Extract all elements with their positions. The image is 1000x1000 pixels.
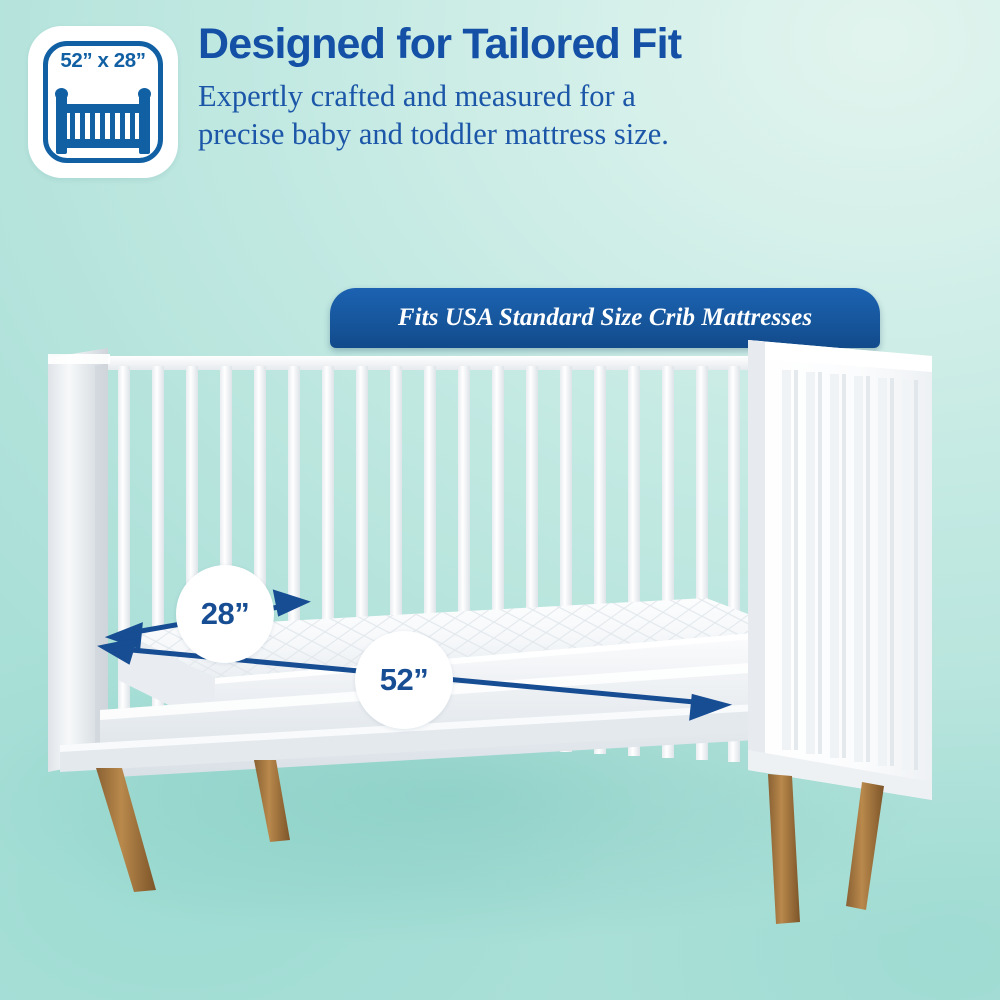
crib-icon <box>50 84 156 158</box>
compatibility-banner-label: Fits USA Standard Size Crib Mattresses <box>398 304 812 332</box>
width-dimension-bubble: 28” <box>176 565 274 663</box>
dimension-badge: 52” x 28” <box>28 26 178 178</box>
page-title: Designed for Tailored Fit <box>198 22 988 68</box>
infographic-stage: 52” x 28” <box>0 0 1000 1000</box>
header-text-block: Designed for Tailored Fit Expertly craft… <box>198 22 988 153</box>
leg-front-left <box>96 768 156 892</box>
badge-dimension-label: 52” x 28” <box>28 49 178 73</box>
crib-illustration <box>0 330 1000 950</box>
width-dimension-label: 28” <box>201 596 249 632</box>
crib-right-end-panel <box>748 340 932 800</box>
page-subtitle-line-1: Expertly crafted and measured for a <box>198 77 988 115</box>
leg-back-right <box>846 782 884 910</box>
leg-front-right <box>768 774 800 924</box>
page-subtitle-line-2: precise baby and toddler mattress size. <box>198 115 988 153</box>
length-dimension-label: 52” <box>380 662 428 698</box>
crib-legs <box>96 760 884 924</box>
crib-left-post <box>48 348 110 772</box>
leg-mid <box>254 760 290 842</box>
length-dimension-bubble: 52” <box>355 631 453 729</box>
